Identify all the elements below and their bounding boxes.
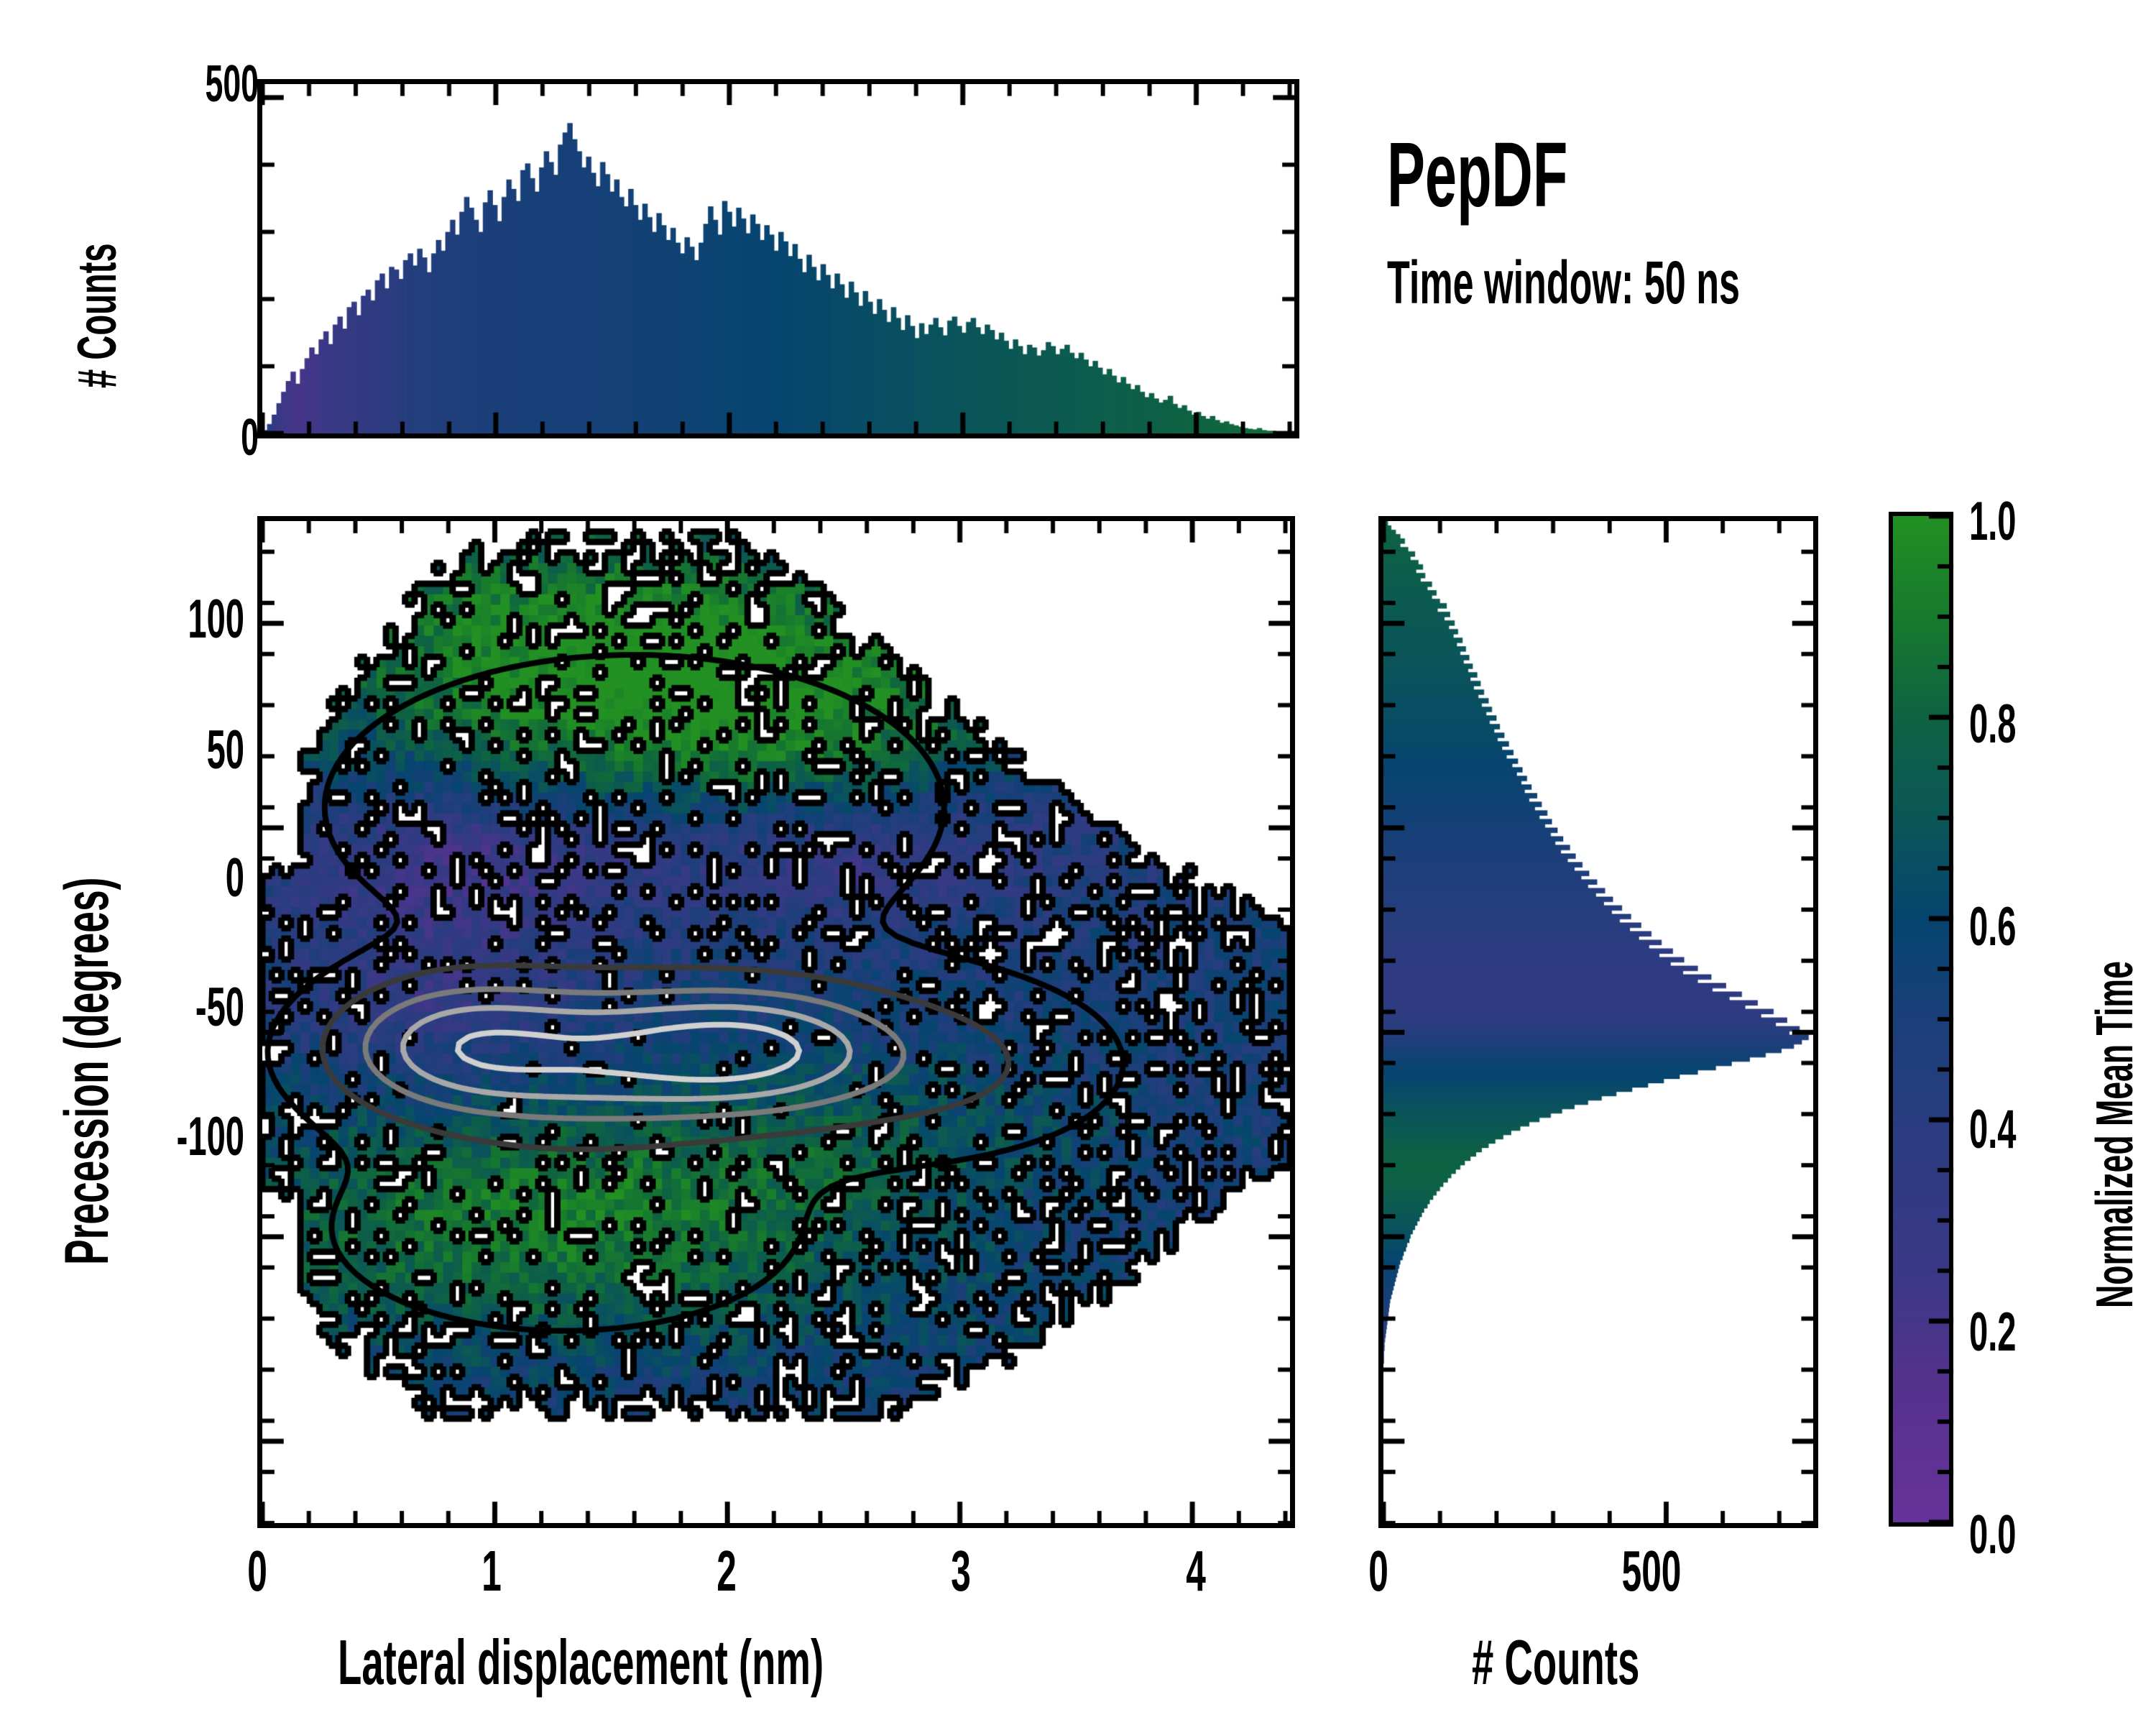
right-histogram-canvas bbox=[1383, 521, 1813, 1523]
top-histogram-canvas bbox=[262, 84, 1294, 433]
main-ytick-50: 50 bbox=[155, 719, 244, 781]
main-ylabel: Precession (degrees) bbox=[52, 878, 123, 1265]
top-hist-ylabel: # Counts bbox=[66, 243, 129, 388]
colorbar-tick-0.6: 0.6 bbox=[1969, 896, 2085, 958]
main-xlabel: Lateral displacement (nm) bbox=[338, 1626, 824, 1699]
figure-title: PepDF bbox=[1387, 122, 1567, 228]
top-marginal-histogram bbox=[257, 79, 1299, 438]
main-ytick-minus100: -100 bbox=[137, 1105, 244, 1168]
colorbar-tick-1.0: 1.0 bbox=[1969, 490, 2085, 553]
main-ytick-100: 100 bbox=[155, 588, 244, 650]
main-ytick-0: 0 bbox=[155, 847, 244, 909]
right-hist-xtick-500: 500 bbox=[1607, 1538, 1696, 1604]
main-xtick-2: 2 bbox=[700, 1538, 753, 1604]
colorbar-tick-0.8: 0.8 bbox=[1969, 693, 2085, 755]
colorbar-tick-0.2: 0.2 bbox=[1969, 1301, 2085, 1363]
figure-root: 500 0 # Counts PepDF Time window: 50 ns … bbox=[0, 0, 2156, 1725]
main-xtick-3: 3 bbox=[934, 1538, 987, 1604]
main-xtick-1: 1 bbox=[465, 1538, 518, 1604]
top-hist-ytick-0: 0 bbox=[206, 408, 259, 467]
right-marginal-histogram bbox=[1378, 516, 1818, 1528]
figure-subtitle: Time window: 50 ns bbox=[1387, 248, 1740, 318]
top-hist-ytick-500: 500 bbox=[178, 55, 259, 114]
colorbar-ticks bbox=[1884, 486, 2042, 1564]
right-hist-xlabel: # Counts bbox=[1472, 1626, 1639, 1699]
colorbar-tick-0.0: 0.0 bbox=[1969, 1504, 2085, 1566]
colorbar-tick-0.4: 0.4 bbox=[1969, 1098, 2085, 1161]
main-xtick-0: 0 bbox=[231, 1538, 284, 1604]
right-hist-xtick-0: 0 bbox=[1352, 1538, 1405, 1604]
main-xtick-4: 4 bbox=[1169, 1538, 1222, 1604]
main-ytick-minus50: -50 bbox=[147, 976, 244, 1039]
joint-heatmap-canvas bbox=[262, 521, 1290, 1523]
colorbar-label: Normalized Mean Time bbox=[2086, 961, 2145, 1308]
joint-heatmap-panel bbox=[257, 516, 1295, 1528]
